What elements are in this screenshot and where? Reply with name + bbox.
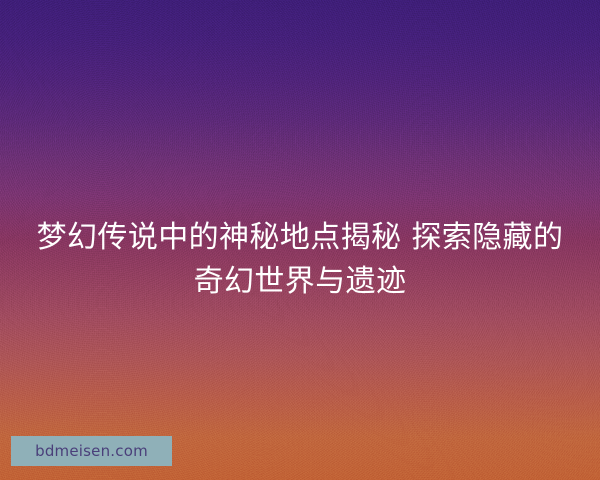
watermark-badge: bdmeisen.com: [11, 436, 172, 466]
watermark-site-label: bdmeisen.com: [35, 444, 148, 459]
page-title: 梦幻传说中的神秘地点揭秘 探索隐藏的 奇幻世界与遗迹: [0, 216, 600, 304]
article-hero-banner: 梦幻传说中的神秘地点揭秘 探索隐藏的 奇幻世界与遗迹 bdmeisen.com: [0, 0, 600, 480]
